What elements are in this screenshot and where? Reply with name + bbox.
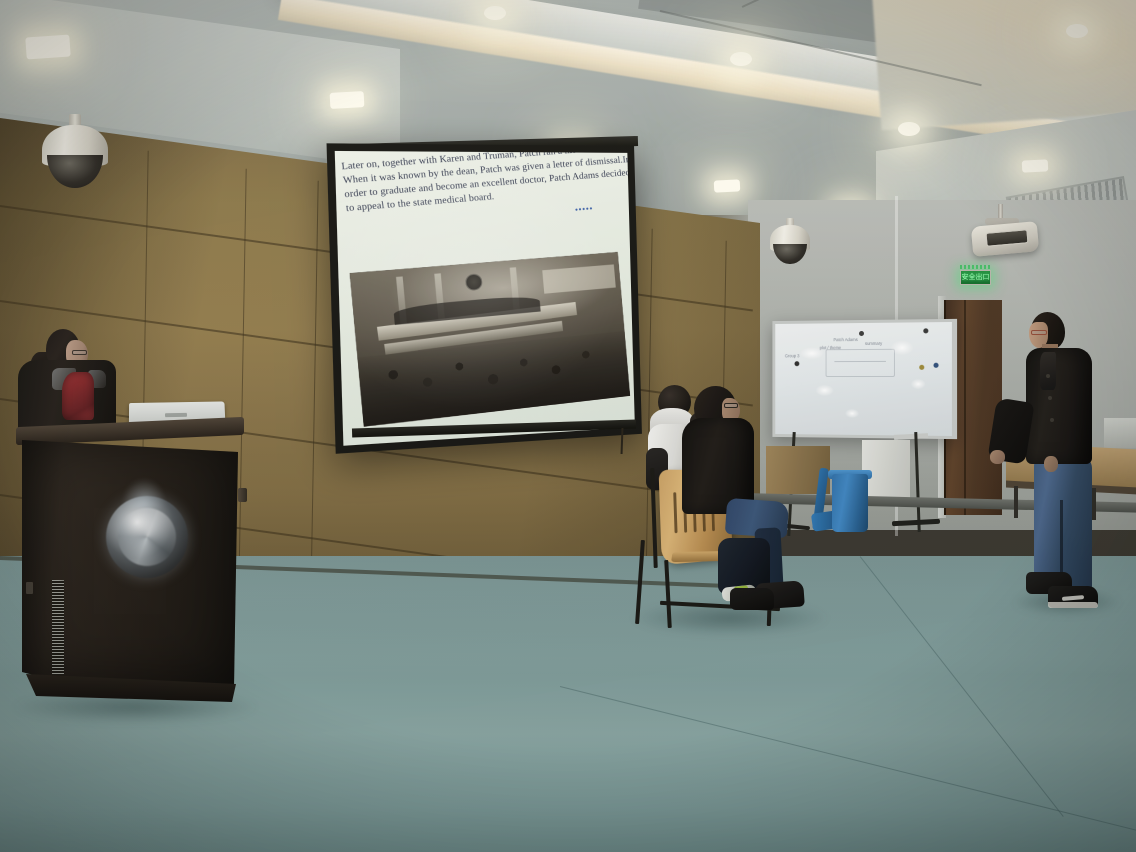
ceiling-downlight [714,179,741,192]
whiteboard-magnet[interactable] [794,361,799,366]
podium-side-fitting [26,582,33,594]
man-hand [990,450,1005,464]
podium-speaker-grille [52,580,64,686]
man-jeans [1034,456,1092,590]
man-hand [1044,456,1058,472]
whiteboard-glare [816,385,834,396]
exit-sign: 安全出口 [960,270,991,285]
ceiling-downlight [25,34,70,59]
podium-emblem-detail [118,508,176,566]
red-scarf [62,372,94,420]
projection-screen: Later on, together with Karen and Truman… [327,143,642,453]
dome-security-camera [770,218,810,264]
far-cabinet [1104,418,1136,448]
ceiling-projector [972,222,1038,254]
boot [730,588,774,610]
camera-dome-lens [47,155,102,188]
eyeglasses-icon [72,350,87,355]
coat-button [1050,418,1054,422]
eyeglasses-icon [1031,330,1047,335]
ceiling-downlight [330,91,365,109]
whiteboard-note: Group 3 [785,353,800,358]
whiteboard-glare [911,379,925,389]
whiteboard-glare [800,347,823,359]
whiteboard-diagram [826,349,895,377]
desk-leg [1092,488,1096,520]
eyeglasses-icon [724,403,738,408]
whiteboard-note: Patch Adams [833,337,857,342]
laptop-logo-icon [165,413,187,417]
camera-dome-lens [773,244,807,264]
podium-side-knob[interactable] [238,488,247,502]
screen-surface: Later on, together with Karen and Truman… [335,151,635,446]
coat-lapel [1040,352,1056,390]
whiteboard-stand-foot [892,519,940,527]
beam-lamp [1066,24,1088,38]
coat-button [1048,396,1052,400]
whiteboard-glare [891,341,913,355]
whiteboard-note: summary [865,341,882,346]
slide-photo [350,252,630,427]
desk-leg [1014,486,1018,518]
whiteboard-magnet[interactable] [923,328,928,333]
blue-trash-bin[interactable] [832,474,868,532]
dome-security-camera [42,114,108,188]
whiteboard-magnet[interactable] [919,365,924,370]
beam-lamp [730,52,752,66]
lecture-podium[interactable] [16,422,244,708]
sneaker-sole [1048,602,1098,608]
ceiling-light-strip-right [871,0,1136,130]
podium-top-surface [16,417,244,445]
beam-lamp [898,122,920,136]
whiteboard-glare [845,409,859,418]
exit-sign-text: 安全出口 [962,274,990,281]
beam-lamp [484,6,506,20]
slide-annotation: ●●●●● [575,207,594,214]
classroom-scene: 安全出口 Later on, together with Karen and T… [0,0,1136,852]
chair-slot [673,492,677,533]
whiteboard-magnet[interactable] [933,363,938,368]
whiteboard-magnet[interactable] [859,331,864,336]
whiteboard-surface[interactable]: Group 3 Patch Adams plot / theme summary [772,319,957,439]
ceiling-downlight [1022,159,1049,172]
whiteboard-marker-tray [894,433,928,440]
door-panel-seam [964,300,966,515]
coat-button [1046,374,1050,378]
exit-sign-frame [960,265,991,269]
whiteboard-stand-leg [914,432,920,532]
man-coat [1026,348,1092,464]
